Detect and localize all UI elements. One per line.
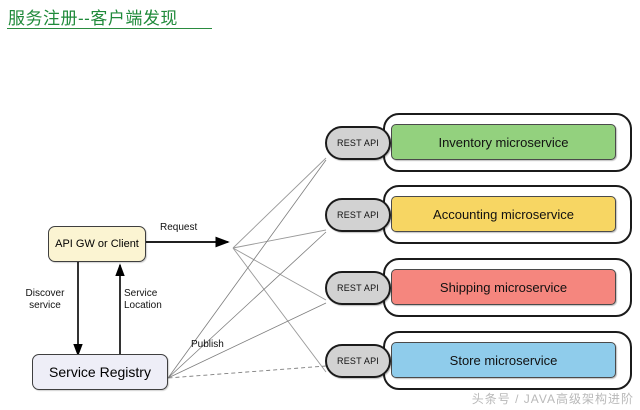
rest-api-pill-inventory[interactable]: REST API: [325, 126, 391, 160]
rest-api-label: REST API: [337, 138, 379, 148]
service-registry-label: Service Registry: [49, 364, 151, 380]
edge-publish-store: [168, 366, 326, 378]
microservice-inventory-label: Inventory microservice: [438, 135, 568, 150]
service-registry-box[interactable]: Service Registry: [32, 354, 168, 390]
rest-api-pill-store[interactable]: REST API: [325, 344, 391, 378]
microservice-shipping[interactable]: Shipping microservice: [391, 269, 616, 305]
microservice-store[interactable]: Store microservice: [391, 342, 616, 378]
microservice-accounting-label: Accounting microservice: [433, 207, 574, 222]
edge-request-to-inventory: [233, 158, 326, 248]
microservice-row-shipping[interactable]: Shipping microservice REST API: [325, 256, 633, 320]
label-request: Request: [160, 222, 197, 234]
api-gateway-box[interactable]: API GW or Client: [48, 226, 146, 262]
microservice-row-accounting[interactable]: Accounting microservice REST API: [325, 183, 633, 247]
microservice-inventory[interactable]: Inventory microservice: [391, 124, 616, 160]
microservice-store-label: Store microservice: [450, 353, 558, 368]
rest-api-pill-accounting[interactable]: REST API: [325, 198, 391, 232]
label-service-location: Service Location: [124, 288, 182, 312]
label-discover-service: Discover service: [18, 288, 72, 312]
microservice-row-inventory[interactable]: Inventory microservice REST API: [325, 111, 633, 175]
diagram-canvas: 服务注册--客户端发现 API GW or Client Service Reg…: [0, 0, 640, 410]
microservice-row-store[interactable]: Store microservice REST API: [325, 329, 633, 393]
microservice-shipping-label: Shipping microservice: [440, 280, 567, 295]
microservice-accounting[interactable]: Accounting microservice: [391, 196, 616, 232]
edge-request-to-shipping: [233, 248, 326, 300]
rest-api-label: REST API: [337, 356, 379, 366]
api-gateway-label: API GW or Client: [55, 238, 139, 250]
edge-publish-accounting: [168, 232, 326, 378]
rest-api-label: REST API: [337, 210, 379, 220]
rest-api-label: REST API: [337, 283, 379, 293]
label-publish: Publish: [191, 339, 224, 351]
rest-api-pill-shipping[interactable]: REST API: [325, 271, 391, 305]
